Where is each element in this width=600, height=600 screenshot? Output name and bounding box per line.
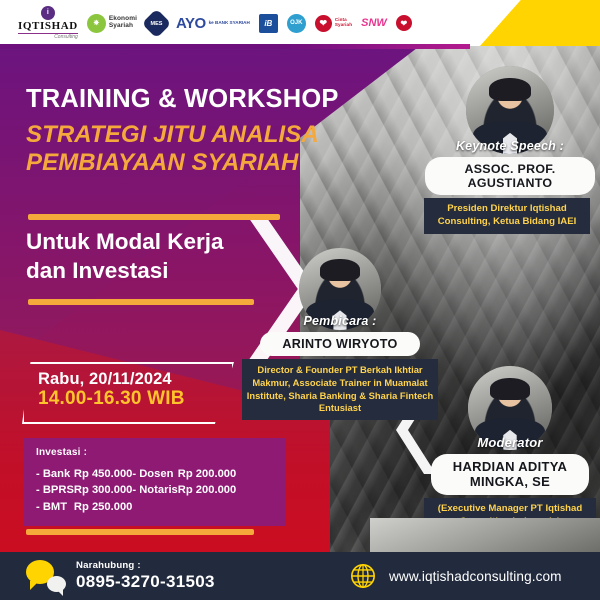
investment-price-left: Rp 250.000 [74, 500, 132, 516]
logo-ekonomi-syariah: ✸ Ekonomi Syariah [87, 14, 137, 33]
investment-panel: Investasi : - Bank Rp 450.000 - Dosen Rp… [24, 438, 286, 526]
investment-label-left: - BMT [36, 500, 74, 516]
headline-block: TRAINING & WORKSHOP STRATEGI JITU ANALIS… [26, 86, 356, 176]
schedule-box-content: Rabu, 20/11/2024 14.00-16.30 WIB [22, 362, 234, 424]
logo-ekonomi-syariah-label: Ekonomi Syariah [109, 16, 137, 30]
footer-website[interactable]: www.iqtishadconsulting.com [350, 563, 562, 589]
investment-label-left: - Bank [36, 467, 74, 483]
speaker-name: ARINTO WIRYOTO [260, 332, 420, 356]
logo-snw: SNW [361, 17, 387, 29]
headline-subtitle-line1: STRATEGI JITU ANALISA [26, 121, 356, 149]
keynote-name: ASSOC. PROF. AGUSTIANTO [425, 157, 595, 195]
header-rule [0, 44, 470, 49]
chat-bubble-icon [26, 560, 66, 592]
logo-cinta-syariah-label: Cinta Syariah [335, 18, 352, 28]
person-card-moderator: Moderator HARDIAN ADITYA MINGKA, SE (Exe… [424, 366, 596, 533]
background-photo-strip [370, 518, 600, 552]
footer-bar: Narahubung : 0895-3270-31503 www.iqtisha… [0, 552, 600, 600]
logo-cinta-syariah: ❤ Cinta Syariah [315, 15, 352, 32]
ojk-mark-icon: OJK [287, 14, 306, 33]
investment-price-right: Rp 200.000 [178, 483, 236, 499]
investment-price-right [178, 500, 236, 516]
investment-label-right: - Dosen [132, 467, 177, 483]
keynote-role-label: Keynote Speech : [424, 139, 596, 153]
investment-table: - Bank Rp 450.000 - Dosen Rp 200.000 - B… [36, 467, 236, 516]
moderator-role-label: Moderator [424, 435, 596, 450]
investment-label-right [132, 500, 177, 516]
mes-mark-icon: MES [142, 8, 172, 38]
ayo-mark-label: AYO [176, 15, 206, 32]
footer-contact: Narahubung : 0895-3270-31503 [0, 560, 330, 592]
contact-phone[interactable]: 0895-3270-31503 [76, 572, 215, 592]
event-date: Rabu, 20/11/2024 [38, 371, 234, 389]
ib-mark-icon: iB [259, 14, 278, 33]
keynote-description: Presiden Direktur Iqtishad Consulting, K… [424, 198, 590, 234]
investment-price-right: Rp 200.000 [178, 467, 236, 483]
investment-title: Investasi : [36, 447, 276, 458]
investment-price-left: Rp 450.000 [74, 467, 132, 483]
logo-ayo-ke-bank-syariah: AYO ke BANK SYARIAH [176, 15, 250, 32]
table-row: - BPRS Rp 300.000 - Notaris Rp 200.000 [36, 483, 236, 499]
iqtishad-mark-icon: i [41, 6, 55, 20]
investment-label-left: - BPRS [36, 483, 74, 499]
snw-mark-label: SNW [361, 17, 387, 29]
investment-price-left: Rp 300.000 [74, 483, 132, 499]
table-row: - Bank Rp 450.000 - Dosen Rp 200.000 [36, 467, 236, 483]
table-row: - BMT Rp 250.000 [36, 500, 236, 516]
website-url[interactable]: www.iqtishadconsulting.com [389, 569, 562, 584]
logo-iqtishad-consulting: i IQTISHAD Consulting [18, 6, 78, 41]
logo-iqtishad-label: IQTISHAD [18, 21, 78, 35]
heart-sharia-icon: ❤ [396, 15, 412, 31]
divider-bottom [28, 299, 254, 305]
page-title: TRAINING & WORKSHOP [26, 86, 356, 113]
headline-subtitle-line2: PEMBIAYAAN SYARIAH [26, 149, 356, 177]
logo-ib-perbankan-syariah: iB [259, 14, 278, 33]
event-time: 14.00-16.30 WIB [38, 389, 234, 410]
schedule-box: Rabu, 20/11/2024 14.00-16.30 WIB [22, 362, 234, 424]
logo-iqtishad-sub: Consulting [18, 34, 78, 40]
divider-top [28, 214, 280, 220]
logo-masyarakat-ekonomi-syariah: MES [146, 13, 167, 34]
person-card-speaker: Pembicara : ARINTO WIRYOTO Director & Fo… [242, 248, 438, 420]
contact-text-group: Narahubung : 0895-3270-31503 [76, 560, 215, 592]
investment-label-right: - Notaris [132, 483, 177, 499]
person-card-keynote: Keynote Speech : ASSOC. PROF. AGUSTIANTO… [424, 66, 596, 234]
logo-ojk: OJK [287, 14, 306, 33]
logo-heart-of-sharia: ❤ [396, 15, 412, 31]
headline-subtitle: STRATEGI JITU ANALISA PEMBIAYAAN SYARIAH [26, 121, 356, 177]
ayo-sub-label: ke BANK SYARIAH [209, 20, 250, 25]
heart-icon: ❤ [315, 15, 332, 32]
speaker-description: Director & Founder PT Berkah Ikhtiar Mak… [242, 359, 438, 420]
event-poster: i IQTISHAD Consulting ✸ Ekonomi Syariah … [0, 0, 600, 600]
contact-label: Narahubung : [76, 560, 215, 571]
sponsor-logo-bar: i IQTISHAD Consulting ✸ Ekonomi Syariah … [0, 0, 600, 46]
ekonomi-syariah-mark-icon: ✸ [87, 14, 106, 33]
speaker-role-label: Pembicara : [242, 314, 438, 328]
globe-icon [350, 563, 376, 589]
divider-investment [26, 529, 254, 535]
moderator-name: HARDIAN ADITYA MINGKA, SE [431, 454, 589, 495]
